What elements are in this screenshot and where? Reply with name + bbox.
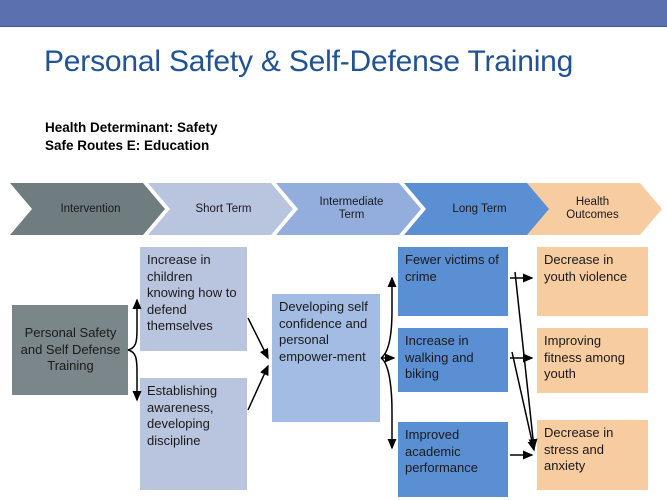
node-long-term-increase-in-walking[interactable]: Increase in walking and biking bbox=[398, 328, 508, 392]
node-intervention[interactable]: Personal Safety and Self Defense Trainin… bbox=[12, 305, 128, 395]
stage-chevron-long-term[interactable]: Long Term bbox=[404, 183, 549, 235]
connector-increase-walking-to-decrease-stress bbox=[512, 352, 534, 450]
stage-chevron-short-term[interactable]: Short Term bbox=[148, 183, 293, 235]
node-outcome-decrease-stress[interactable]: Decrease in stress and anxiety bbox=[537, 420, 648, 490]
connector-developing-to-fewer-victims bbox=[381, 278, 392, 358]
connector-intervention-to-establishing-awareness bbox=[128, 350, 137, 400]
page-title: Personal Safety & Self-Defense Training bbox=[44, 45, 644, 79]
stage-label-short-term: Short Term bbox=[195, 203, 251, 216]
subtitle-line-health-determinant: Health Determinant: Safety bbox=[45, 119, 218, 137]
node-intermediate-developing-self-confidence[interactable]: Developing self confidence and personal … bbox=[272, 294, 380, 422]
subtitle-line-safe-routes: Safe Routes E: Education bbox=[45, 137, 218, 155]
slide-canvas: Personal Safety & Self-Defense Training … bbox=[0, 0, 667, 500]
stage-label-long-term: Long Term bbox=[452, 203, 506, 216]
subtitle-block: Health Determinant: Safety Safe Routes E… bbox=[45, 119, 218, 155]
stage-banner: Intervention Short Term IntermediateTerm… bbox=[0, 183, 667, 235]
node-outcome-decrease-youth-violence[interactable]: Decrease in youth violence bbox=[537, 247, 648, 316]
connector-establishing-awareness-to-developing bbox=[248, 366, 268, 410]
stage-chevron-intervention[interactable]: Intervention bbox=[10, 183, 165, 235]
node-short-term-increase-in-children[interactable]: Increase in children knowing how to defe… bbox=[140, 247, 247, 351]
node-outcome-improving-fitness[interactable]: Improving fitness among youth bbox=[537, 328, 648, 393]
connector-developing-to-improved-academic bbox=[381, 358, 392, 448]
stage-label-intervention: Intervention bbox=[60, 203, 120, 216]
node-long-term-fewer-victims[interactable]: Fewer victims of crime bbox=[398, 247, 508, 316]
stage-chevron-intermediate-term[interactable]: IntermediateTerm bbox=[276, 183, 421, 235]
stage-label-intermediate: IntermediateTerm bbox=[320, 196, 384, 222]
node-short-term-establishing-awareness[interactable]: Establishing awareness, developing disci… bbox=[140, 378, 247, 490]
stage-label-health-outcomes: HealthOutcomes bbox=[566, 196, 618, 222]
connector-fewer-victims-to-decrease-stress bbox=[515, 272, 534, 448]
connector-increase-in-children-to-developing bbox=[248, 318, 268, 358]
top-accent-bar bbox=[0, 0, 667, 27]
node-long-term-improved-academic[interactable]: Improved academic performance bbox=[398, 422, 508, 497]
connector-intervention-to-increase-in-children bbox=[128, 300, 137, 350]
